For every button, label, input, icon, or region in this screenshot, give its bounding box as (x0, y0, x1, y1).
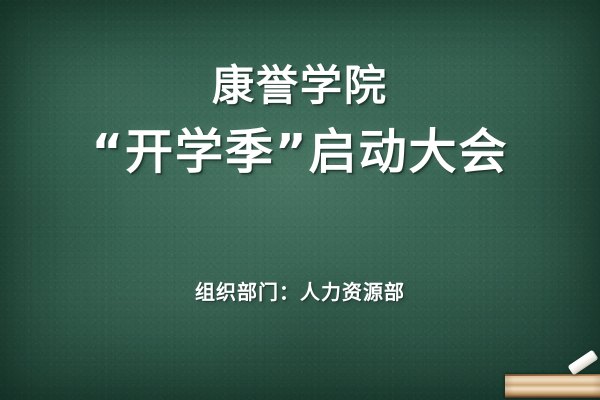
slide-title: 康誉学院 “开学季”启动大会 (0, 62, 600, 180)
title-line-2: “开学季”启动大会 (0, 125, 600, 181)
title-line-1: 康誉学院 (0, 62, 600, 111)
slide-subtitle: 组织部门：人力资源部 (0, 276, 600, 305)
wooden-chalk-ledge (505, 374, 600, 398)
presentation-slide: 康誉学院 “开学季”启动大会 组织部门：人力资源部 (0, 0, 600, 400)
chalk-ledge-grain (505, 376, 600, 397)
slide-content: 康誉学院 “开学季”启动大会 组织部门：人力资源部 (0, 0, 600, 400)
